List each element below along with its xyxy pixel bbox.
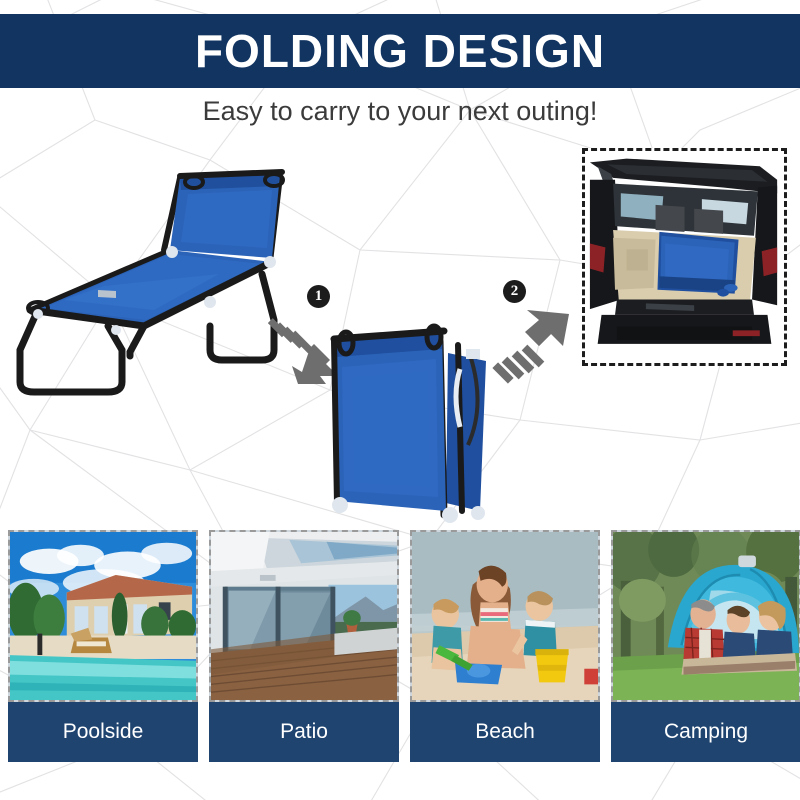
- thumbnail-photo-patio: [209, 530, 399, 702]
- list-item[interactable]: Patio: [209, 530, 399, 762]
- thumbnail-caption-patio: Patio: [209, 702, 399, 762]
- step-1-badge: 1: [307, 285, 330, 308]
- infographic-stage: FOLDING DESIGN Easy to carry to your nex…: [0, 0, 800, 800]
- thumbnail-caption-camping: Camping: [611, 702, 800, 762]
- thumbnail-caption-beach: Beach: [410, 702, 600, 762]
- thumbnail-photo-poolside: [8, 530, 198, 702]
- open-folding-lounge-chair: [4, 150, 300, 400]
- thumbnail-photo-camping: [611, 530, 800, 702]
- thumbnail-photo-beach: [410, 530, 600, 702]
- list-item[interactable]: Poolside: [8, 530, 198, 762]
- suv-trunk-with-folded-chair: [582, 148, 787, 366]
- use-case-thumbnail-row: Poolside: [8, 530, 792, 762]
- step-2-badge: 2: [503, 280, 526, 303]
- list-item[interactable]: Beach: [410, 530, 600, 762]
- page-title: FOLDING DESIGN: [195, 28, 605, 74]
- list-item[interactable]: Camping: [611, 530, 800, 762]
- page-subtitle: Easy to carry to your next outing!: [0, 96, 800, 127]
- header-banner: FOLDING DESIGN: [0, 14, 800, 88]
- step-2-arrow-icon: [483, 310, 571, 388]
- folding-sequence-diagram: 1: [0, 140, 800, 530]
- thumbnail-caption-poolside: Poolside: [8, 702, 198, 762]
